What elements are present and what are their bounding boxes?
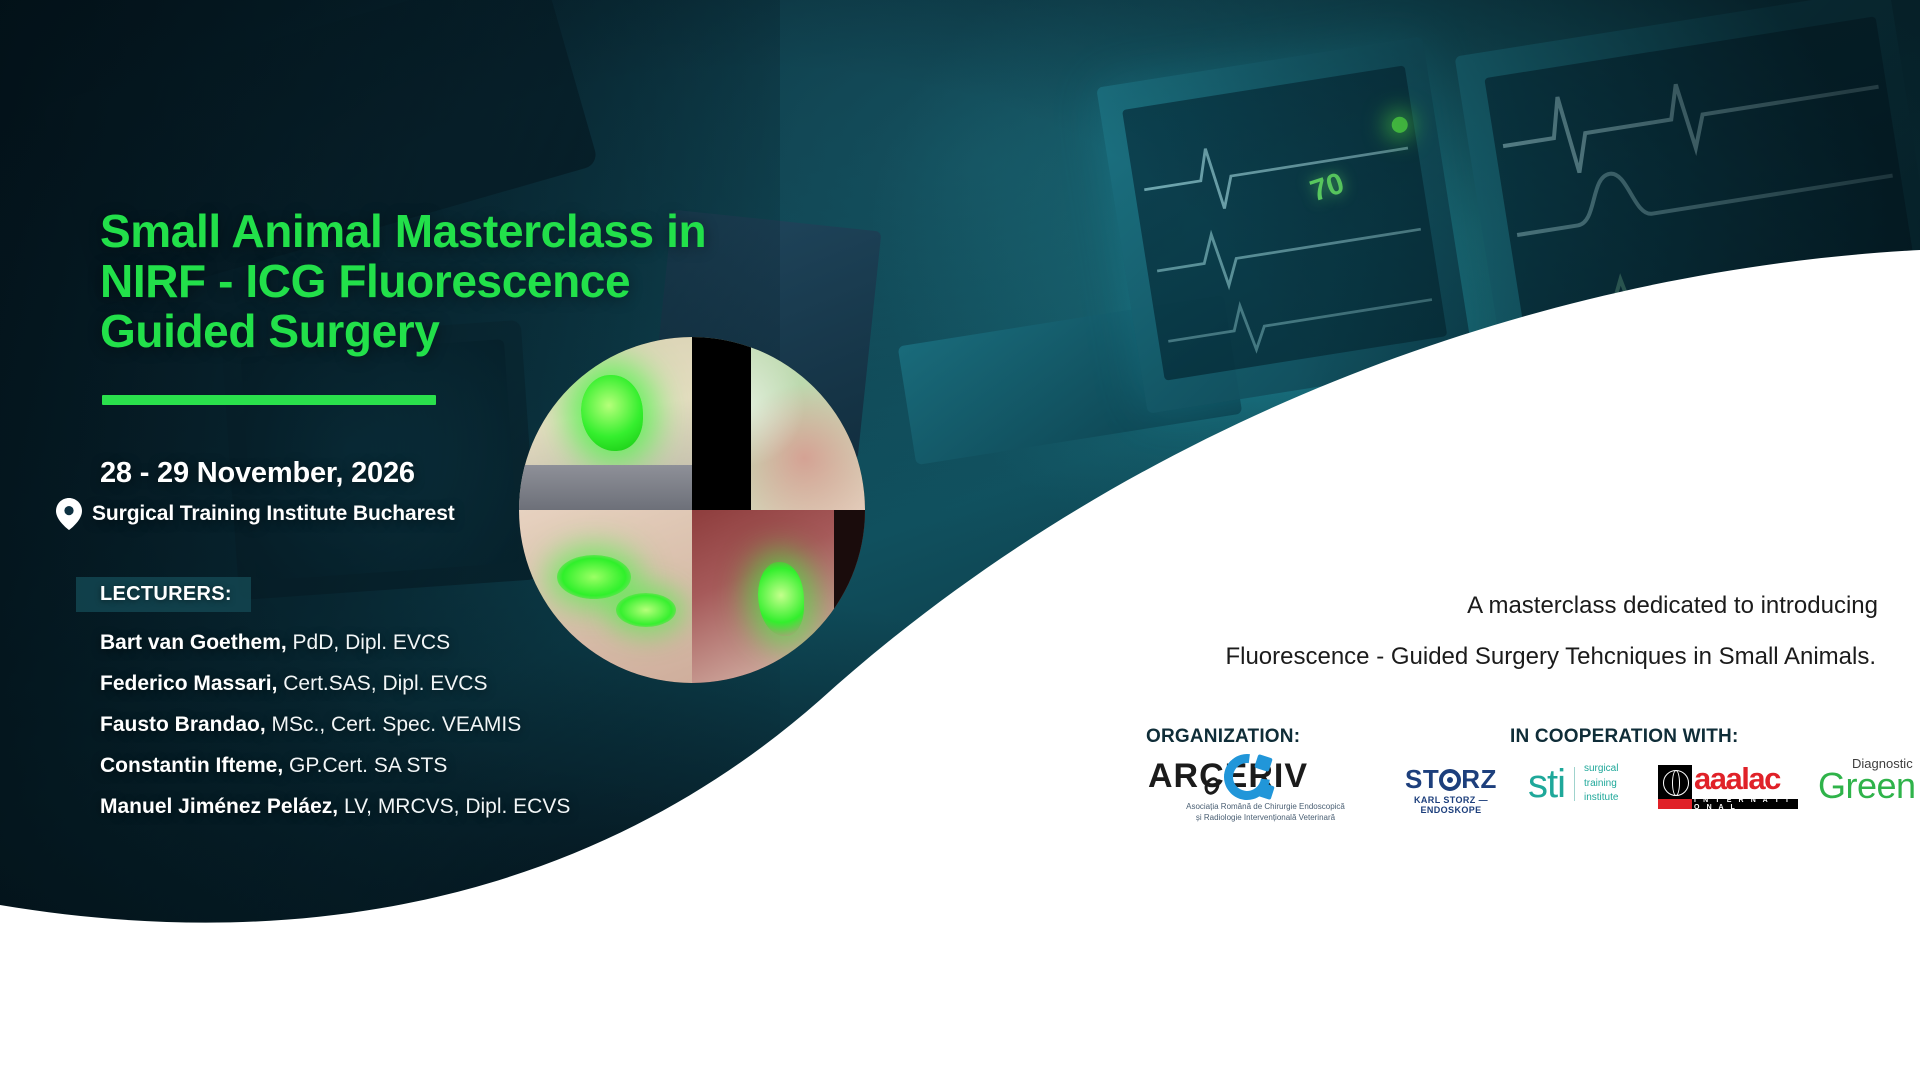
title-underline-rule [102,395,436,405]
globe-icon [1658,765,1692,799]
lecturer-name: Federico Massari, [100,672,277,695]
organization-heading: ORGANIZATION: [1146,726,1300,748]
masterclass-poster: 70 Small Animal Masterclass in NIRF [0,0,1920,1080]
page-title: Small Animal Masterclass in NIRF - ICG F… [100,207,820,357]
collage-quadrant-2 [692,337,865,510]
event-date: 28 - 29 November, 2026 [100,457,415,490]
lecturer-name: Bart van Goethem, [100,631,287,654]
storz-subtitle: KARL STORZ — ENDOSKOPE [1392,795,1510,815]
storz-o-icon [1439,769,1461,791]
title-line-2: NIRF - ICG Fluorescence [100,255,630,307]
map-pin-icon [56,498,82,530]
aaalac-logo[interactable]: aaalac I N T E R N A T I O N A L [1658,765,1798,809]
sti-logo[interactable]: sti surgical training institute [1528,762,1618,806]
lecturer-credentials: MSc., Cert. Spec. VEAMIS [266,713,522,736]
lecturer-name: Fausto Brandao, [100,713,266,736]
aaalac-row: aaalac [1658,765,1798,799]
white-curve-shape [0,0,1920,1080]
sti-subtitle: surgical training institute [1584,762,1618,806]
list-item: Fausto Brandao, MSc., Cert. Spec. VEAMIS [100,714,800,735]
description-line-1: A masterclass dedicated to introducing [1090,594,1920,618]
arceriv-subtitle: Asociația Română de Chirurgie Endoscopic… [1148,802,1383,824]
lecturers-list: Bart van Goethem, PdD, Dipl. EVCS Federi… [100,632,800,837]
sti-subtitle-line-3: institute [1584,791,1618,806]
arceriv-wordmark: ARCERIV [1148,757,1383,797]
diagnostic-green-logo[interactable]: Diagnostic Green [1818,757,1920,804]
lecturers-heading: LECTURERS: [76,583,232,606]
lecturer-credentials: PdD, Dipl. EVCS [287,631,450,654]
lecturer-credentials: Cert.SAS, Dipl. EVCS [277,672,487,695]
title-line-1: Small Animal Masterclass in [100,205,706,257]
karl-storz-logo[interactable]: STRZ KARL STORZ — ENDOSKOPE [1392,766,1510,815]
lecturers-heading-badge: LECTURERS: [76,577,251,612]
event-venue: Surgical Training Institute Bucharest [92,502,455,526]
arceriv-logo[interactable]: ARCERIV Asociația Română de Chirurgie En… [1148,757,1383,824]
venue-row: Surgical Training Institute Bucharest [56,498,455,530]
aaalac-bar: I N T E R N A T I O N A L [1658,799,1798,809]
title-line-3: Guided Surgery [100,305,439,357]
sti-subtitle-line-1: surgical [1584,762,1618,777]
collage-quadrant-1 [519,337,692,510]
lecturer-credentials: LV, MRCVS, Dipl. ECVS [338,795,570,818]
lecturer-name: Manuel Jiménez Peláez, [100,795,338,818]
list-item: Manuel Jiménez Peláez, LV, MRCVS, Dipl. … [100,796,800,817]
lecturer-credentials: GP.Cert. SA STS [283,754,447,777]
lecturer-name: Constantin Ifteme, [100,754,283,777]
arceriv-subtitle-line-1: Asociația Română de Chirurgie Endoscopic… [1148,802,1383,813]
sti-subtitle-line-2: training [1584,777,1618,792]
list-item: Constantin Ifteme, GP.Cert. SA STS [100,755,800,776]
description-line-2: Fluorescence - Guided Surgery Tehcniques… [1090,645,1920,669]
cooperation-heading: IN COOPERATION WITH: [1510,726,1738,748]
sti-divider [1574,767,1575,801]
storz-wordmark: STRZ [1392,766,1510,792]
aaalac-red-block [1658,799,1692,809]
diagnostic-green-wordmark: Green [1818,768,1920,804]
sti-wordmark: sti [1528,766,1565,802]
list-item: Bart van Goethem, PdD, Dipl. EVCS [100,632,800,653]
aaalac-wordmark: aaalac [1694,765,1780,799]
list-item: Federico Massari, Cert.SAS, Dipl. EVCS [100,673,800,694]
arceriv-subtitle-line-2: și Radiologie Intervențională Veterinară [1148,813,1383,824]
